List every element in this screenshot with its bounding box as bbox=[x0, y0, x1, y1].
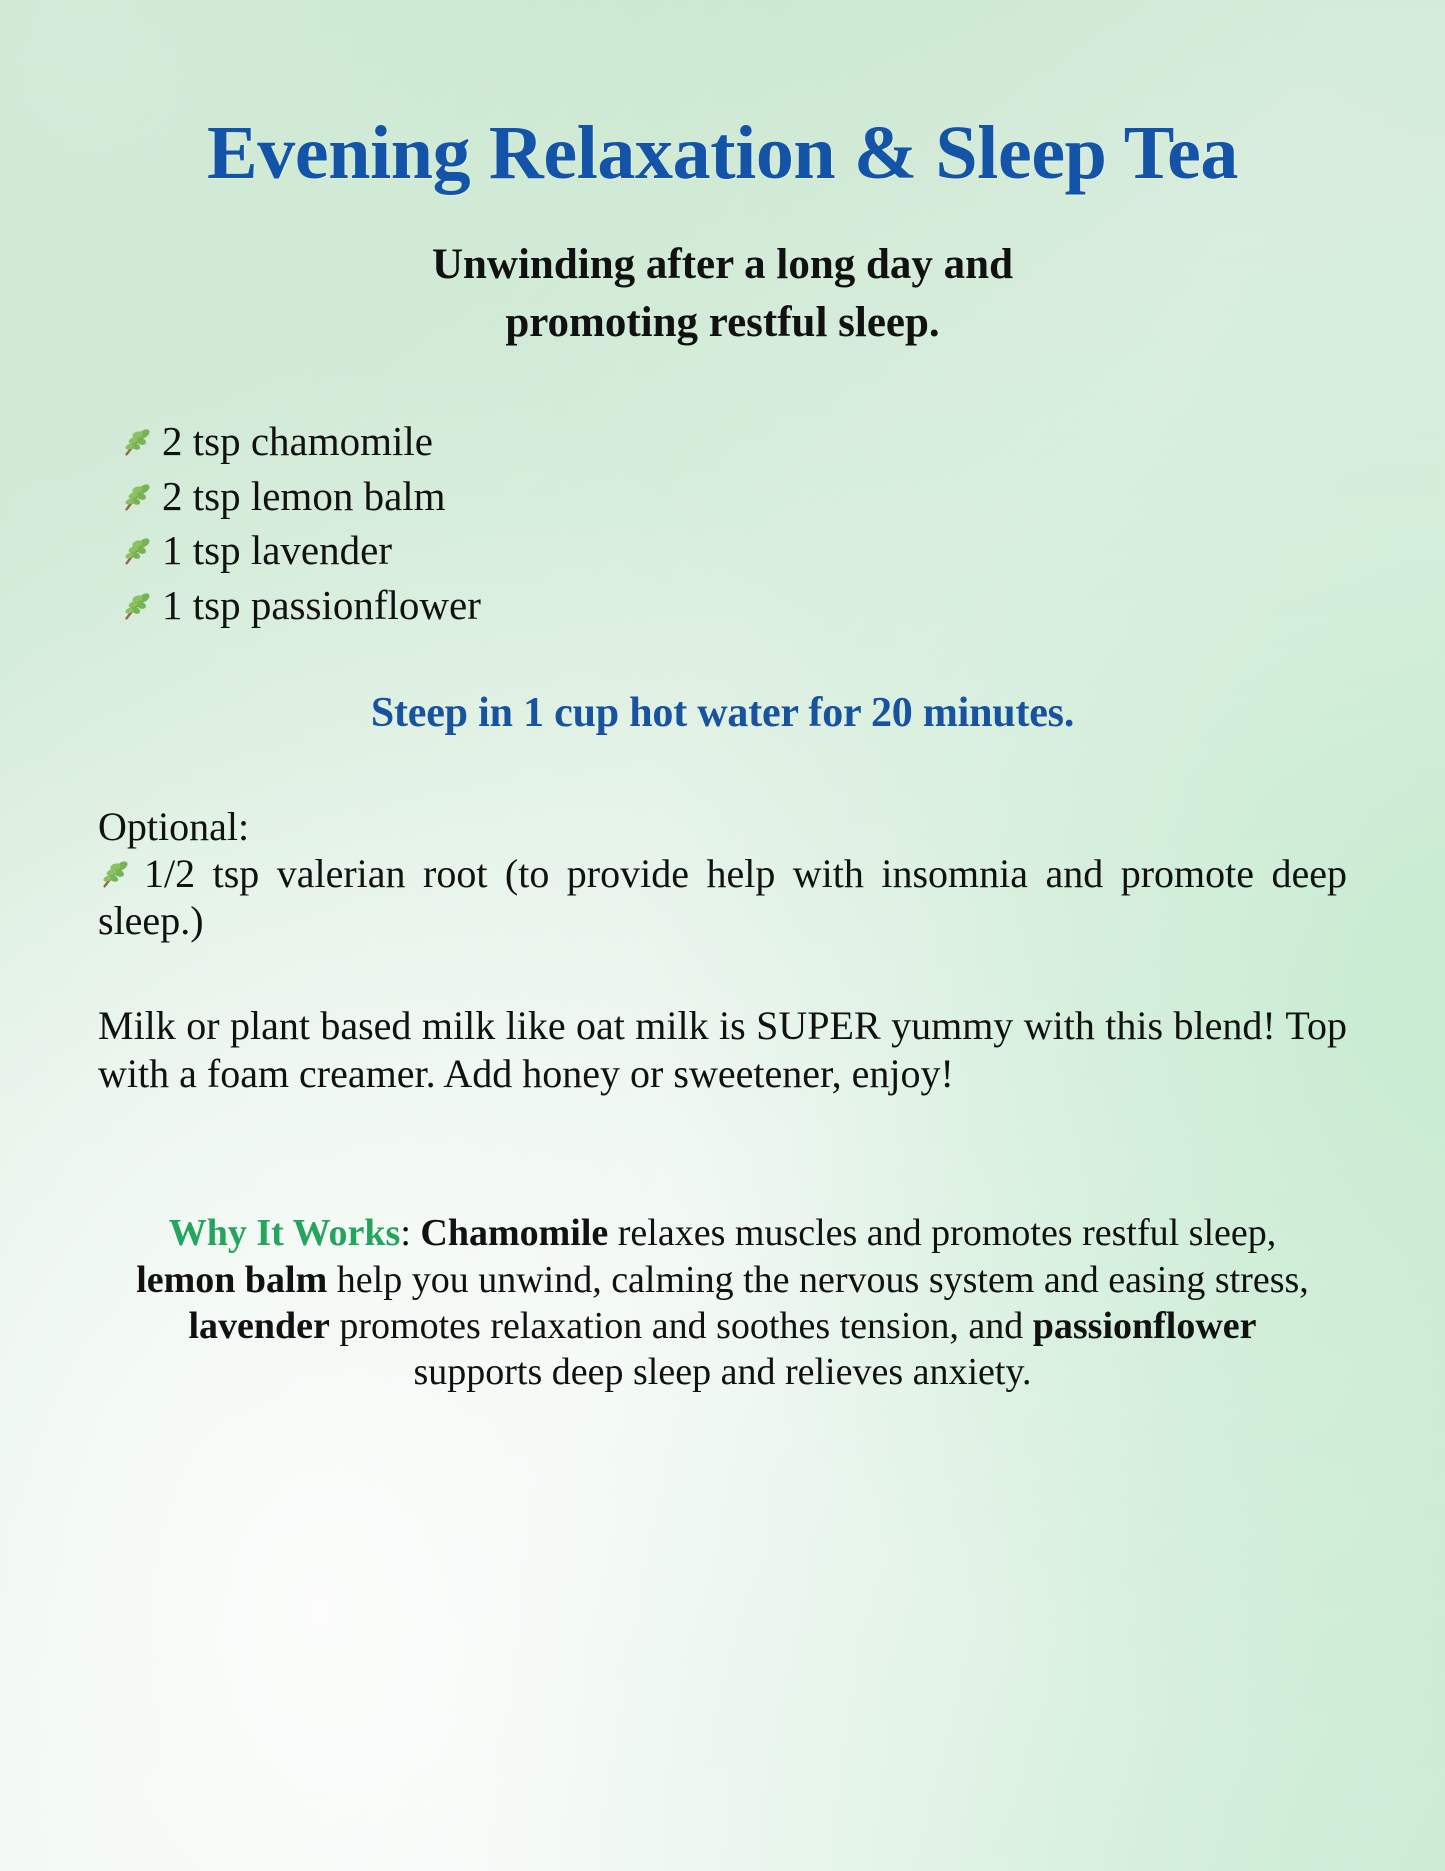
why-it-works-paragraph: Why It Works: Chamomile relaxes muscles … bbox=[98, 1098, 1347, 1395]
ingredient-label: 1 tsp lavender bbox=[162, 523, 392, 578]
list-item: 2 tsp lemon balm bbox=[120, 469, 1347, 524]
ingredient-label: 1 tsp passionflower bbox=[162, 578, 481, 633]
list-item: 1 tsp passionflower bbox=[120, 578, 1347, 633]
herb-icon bbox=[98, 857, 132, 891]
herb-icon bbox=[120, 534, 154, 568]
subtitle-line-2: promoting restful sleep. bbox=[98, 294, 1347, 352]
herb-name-passionflower: passionflower bbox=[1033, 1305, 1257, 1347]
why-text-4: supports deep sleep and relieves anxiety… bbox=[413, 1351, 1031, 1393]
ingredient-label: 2 tsp chamomile bbox=[162, 414, 433, 469]
herb-icon bbox=[120, 480, 154, 514]
why-text-3: promotes relaxation and soothes tension,… bbox=[330, 1305, 1033, 1347]
steep-instruction: Steep in 1 cup hot water for 20 minutes. bbox=[98, 632, 1347, 741]
herb-name-lavender: lavender bbox=[188, 1305, 329, 1347]
ingredient-label: 2 tsp lemon balm bbox=[162, 469, 446, 524]
why-text-2: help you unwind, calming the nervous sys… bbox=[327, 1259, 1309, 1301]
why-text-1: relaxes muscles and promotes restful sle… bbox=[608, 1212, 1276, 1254]
list-item: 2 tsp chamomile bbox=[120, 414, 1347, 469]
optional-section: Optional: 1/2 tsp valerian root (to prov… bbox=[98, 741, 1347, 945]
why-it-works-label: Why It Works bbox=[169, 1212, 401, 1254]
page-title: Evening Relaxation & Sleep Tea bbox=[98, 0, 1347, 194]
milk-note-paragraph: Milk or plant based milk like oat milk i… bbox=[98, 944, 1347, 1098]
herb-icon bbox=[120, 589, 154, 623]
page-subtitle: Unwinding after a long day and promoting… bbox=[98, 194, 1347, 352]
herb-name-lemon-balm: lemon balm bbox=[136, 1259, 327, 1301]
herb-icon bbox=[120, 425, 154, 459]
subtitle-line-1: Unwinding after a long day and bbox=[98, 236, 1347, 294]
ingredient-list: 2 tsp chamomile 2 tsp lemon balm bbox=[98, 352, 1347, 632]
document-body: Evening Relaxation & Sleep Tea Unwinding… bbox=[0, 0, 1445, 1871]
list-item: 1 tsp lavender bbox=[120, 523, 1347, 578]
optional-ingredient-text: 1/2 tsp valerian root (to provide help w… bbox=[98, 851, 1347, 943]
why-separator: : bbox=[400, 1212, 420, 1254]
optional-label: Optional: bbox=[98, 803, 1347, 850]
optional-text-row: 1/2 tsp valerian root (to provide help w… bbox=[98, 850, 1347, 944]
herb-name-chamomile: Chamomile bbox=[420, 1212, 608, 1254]
